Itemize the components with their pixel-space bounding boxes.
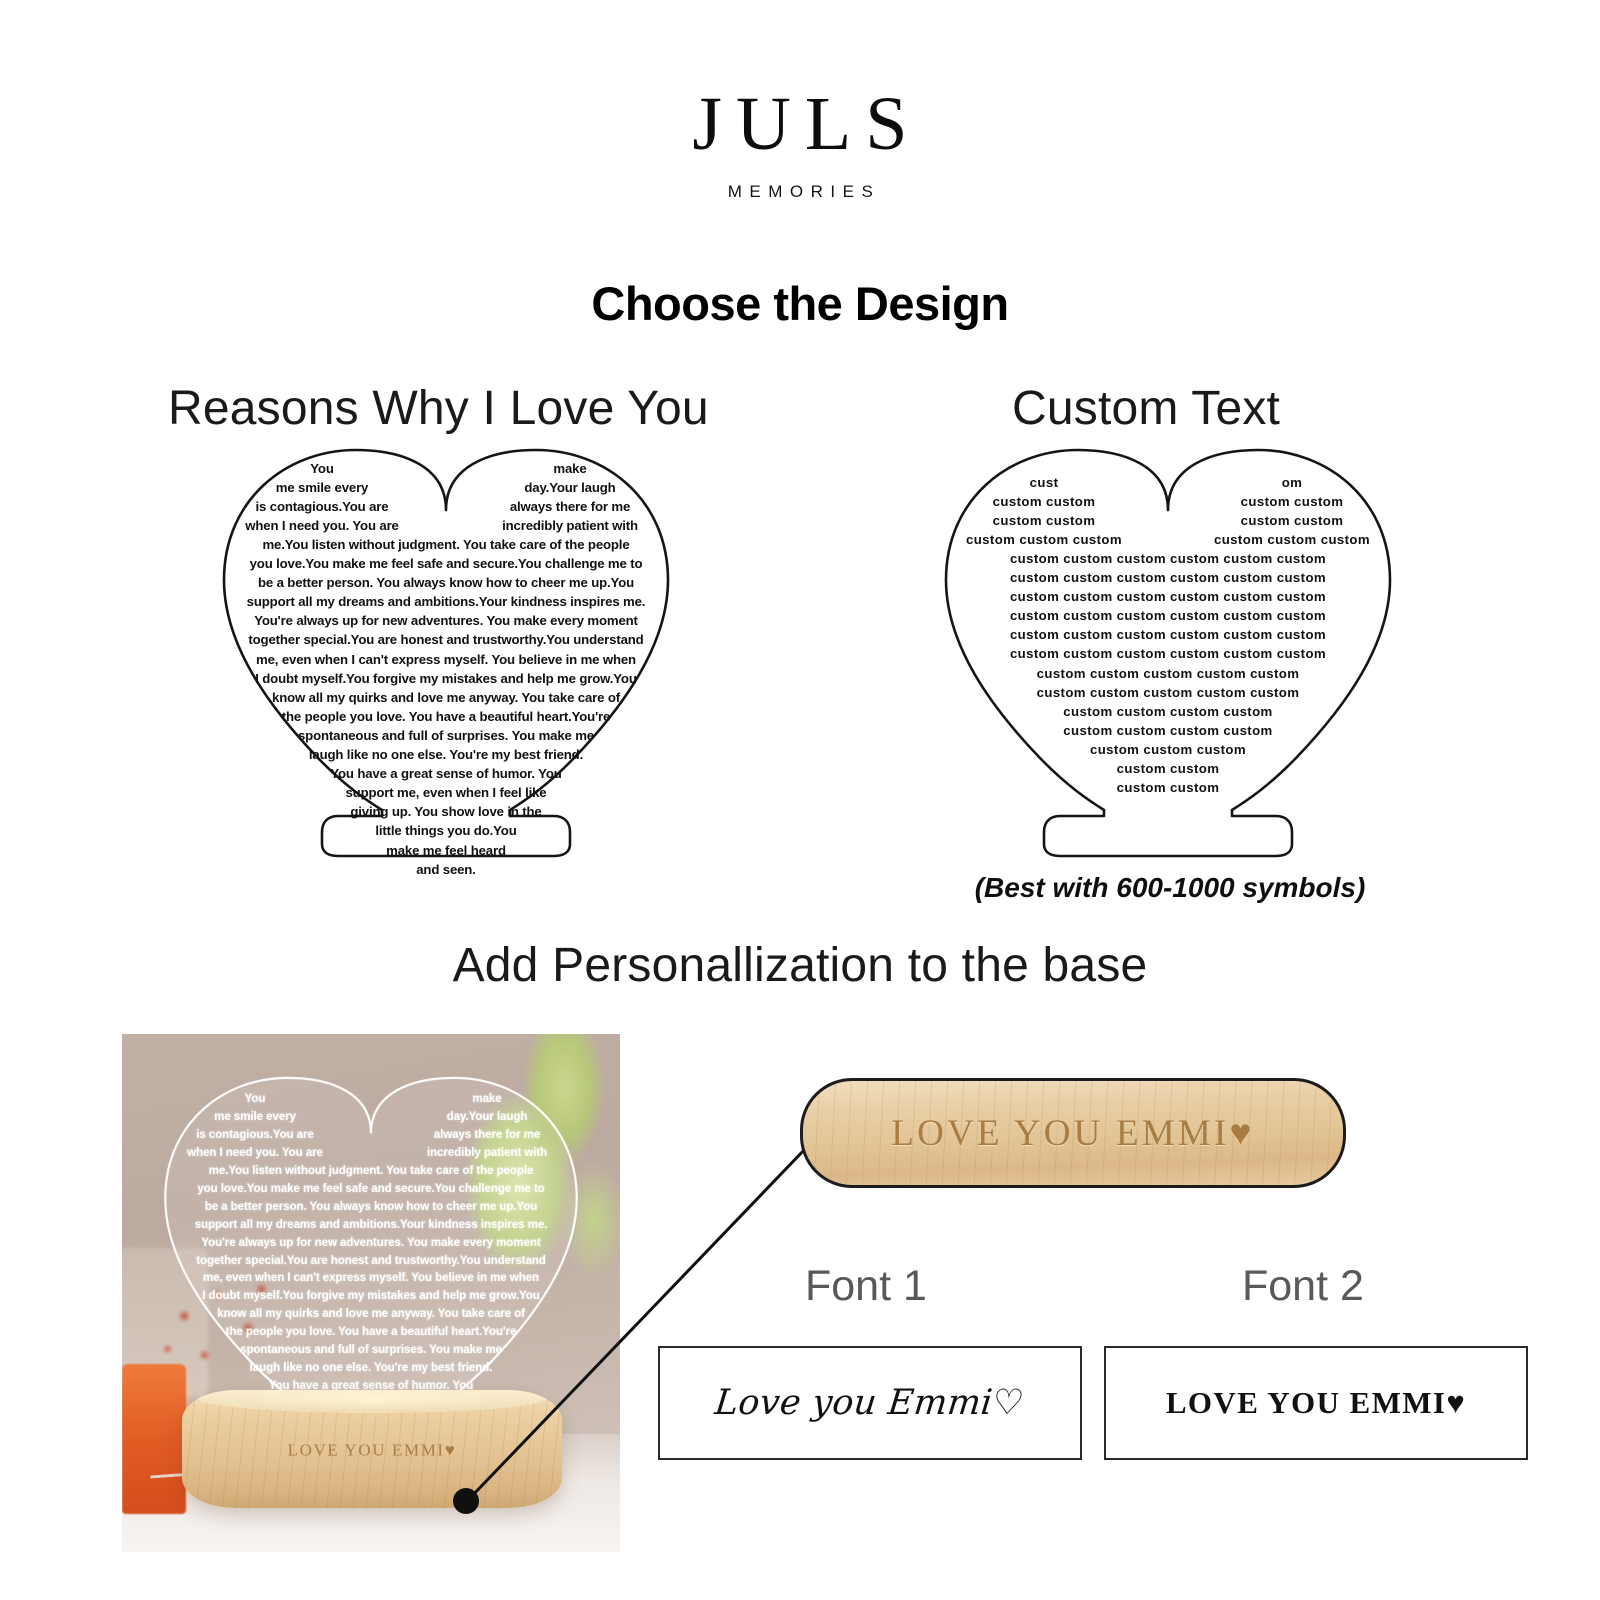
section-title-choose-design: Choose the Design	[0, 276, 1600, 331]
heart-lobe-right-lines: om custom custom custom custom custom cu…	[1176, 473, 1408, 549]
heart-text-custom: cust custom custom custom custom custom …	[928, 448, 1408, 858]
heart-body-lines: custom custom custom custom custom custo…	[928, 549, 1408, 797]
design-option-label-custom: Custom Text	[1012, 381, 1280, 436]
font-option-sample-1[interactable]: Love you Emmi♡	[658, 1346, 1082, 1460]
section-title-personalization: Add Personallization to the base	[0, 938, 1600, 993]
product-photo: You me smile every is contagious.You are…	[122, 1034, 620, 1552]
heart-lobe-left-lines: You me smile every is contagious.You are…	[206, 459, 438, 535]
acrylic-lobe-right: make day.Your laugh always there for me …	[378, 1090, 596, 1162]
heart-lobe-left-lines: cust custom custom custom custom custom …	[928, 473, 1160, 549]
heart-text-reasons: You me smile every is contagious.You are…	[206, 448, 686, 858]
brand-logo: JULS MEMORIES	[0, 86, 1600, 202]
heart-body-lines: me.You listen without judgment. You take…	[206, 535, 686, 879]
photo-wooden-base: LOVE YOU EMMI♥	[182, 1390, 562, 1508]
font-option-label-1: Font 1	[805, 1262, 927, 1311]
brand-name: JULS	[0, 86, 1600, 162]
symbols-hint-note: (Best with 600-1000 symbols)	[920, 872, 1420, 904]
photo-base-engraving: LOVE YOU EMMI♥	[182, 1441, 562, 1461]
product-listing-page: JULS MEMORIES Choose the Design Reasons …	[0, 0, 1600, 1600]
font-option-sample-2[interactable]: LOVE YOU EMMI♥	[1104, 1346, 1528, 1460]
wooden-base-callout: LOVE YOU EMMI♥	[800, 1078, 1346, 1188]
acrylic-lobe-left: You me smile every is contagious.You are…	[146, 1090, 364, 1162]
font-sample-text-2: LOVE YOU EMMI♥	[1166, 1385, 1466, 1421]
brand-tagline: MEMORIES	[0, 182, 1600, 202]
font-option-label-2: Font 2	[1242, 1262, 1364, 1311]
font-sample-text-1: Love you Emmi♡	[713, 1383, 1026, 1423]
heart-diagram-reasons[interactable]: You me smile every is contagious.You are…	[206, 448, 686, 858]
design-option-label-reasons: Reasons Why I Love You	[168, 381, 709, 436]
heart-lobe-right-lines: make day.Your laugh always there for me …	[454, 459, 686, 535]
plaque-engraving-text: LOVE YOU EMMI♥	[803, 1081, 1343, 1185]
heart-diagram-custom[interactable]: cust custom custom custom custom custom …	[928, 448, 1408, 858]
